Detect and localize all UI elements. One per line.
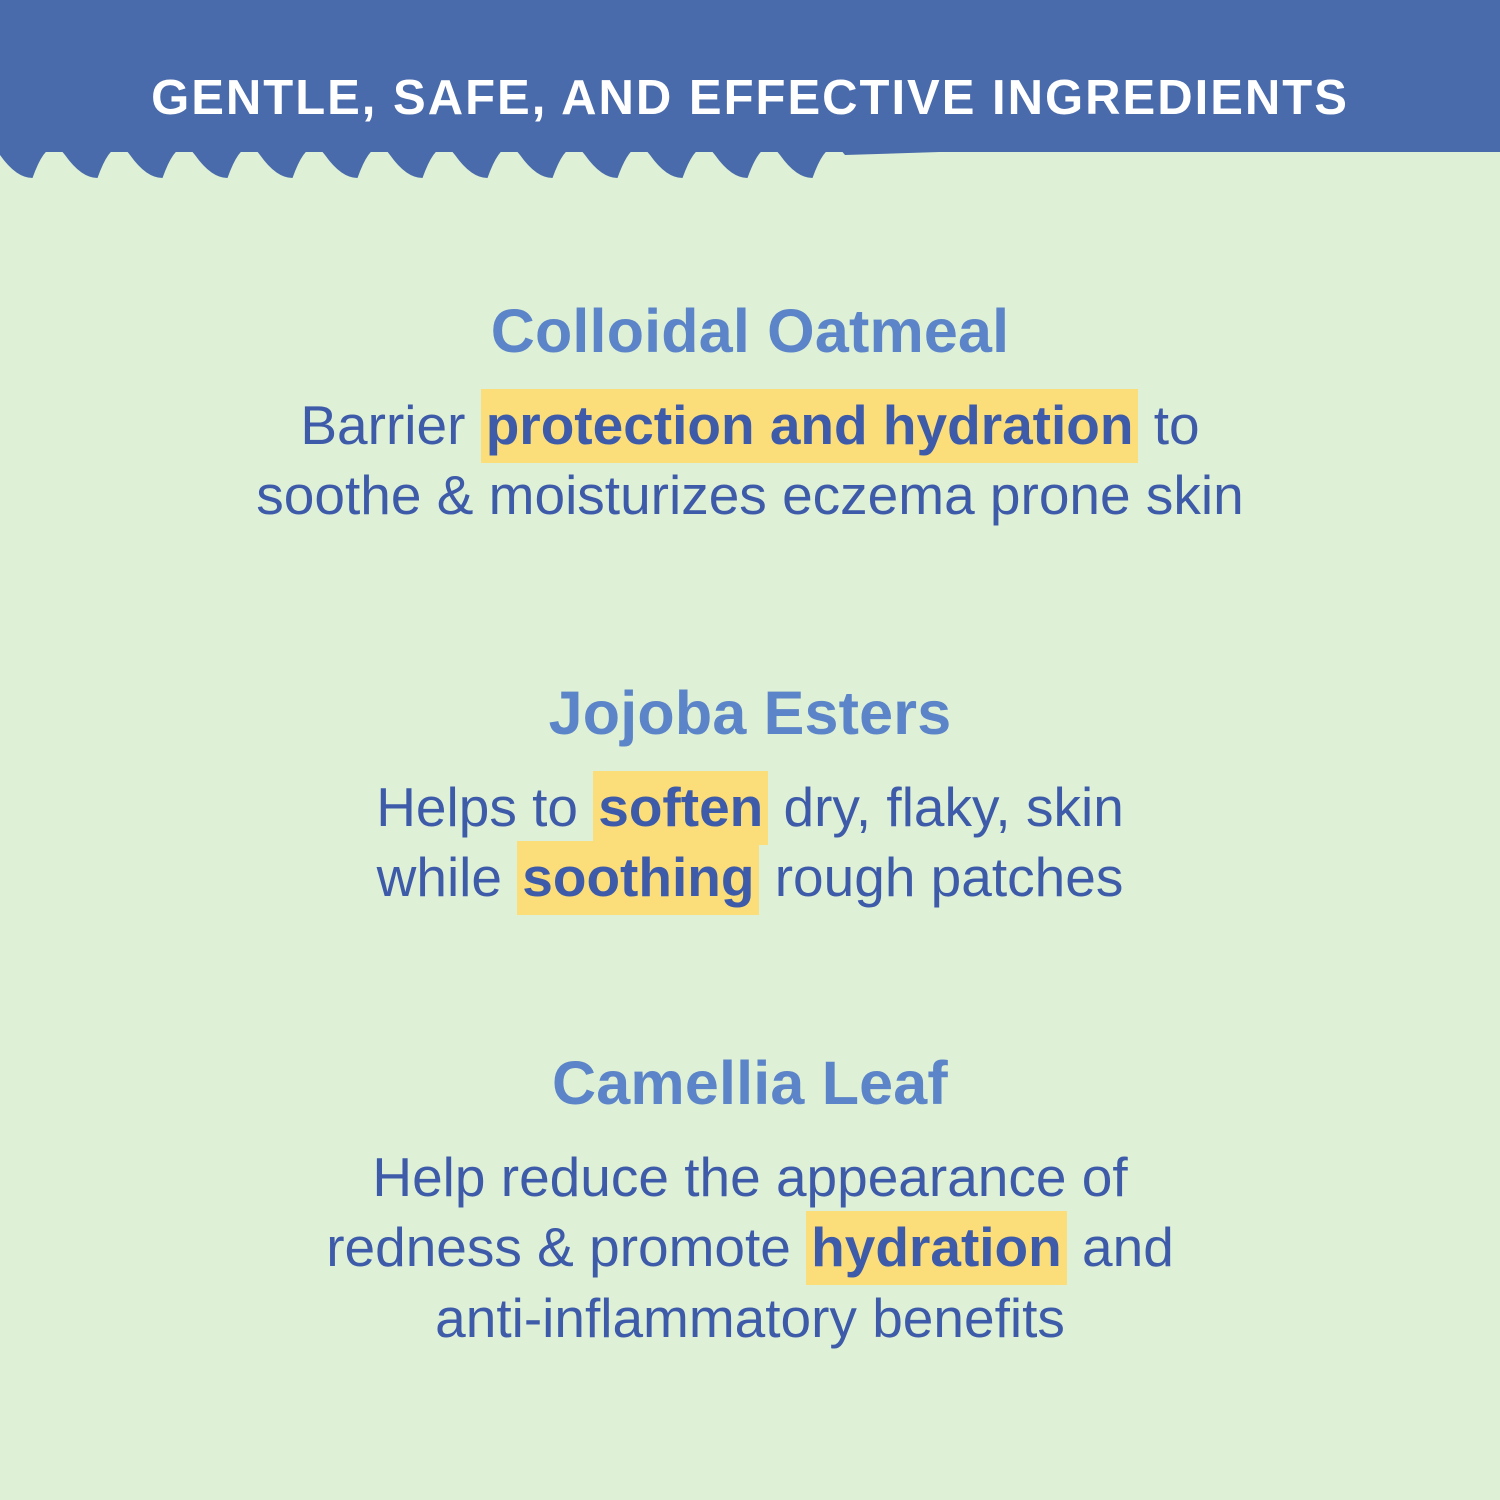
ingredient-item-colloidal-oatmeal: Colloidal Oatmeal Barrier protection and… (0, 296, 1500, 531)
text-run: Help reduce the appearance of (372, 1146, 1127, 1208)
text-run: redness & promote (326, 1216, 806, 1278)
text-run: soothe & moisturizes eczema prone skin (256, 464, 1243, 526)
text-run: dry, flaky, skin (768, 776, 1124, 838)
ingredient-name: Jojoba Esters (0, 678, 1500, 750)
text-run: and (1067, 1216, 1174, 1278)
ingredient-description: Help reduce the appearance ofredness & p… (0, 1142, 1500, 1353)
description-line: Help reduce the appearance of (0, 1142, 1500, 1212)
scalloped-wave-divider-icon (0, 132, 1500, 178)
description-line: soothe & moisturizes eczema prone skin (0, 460, 1500, 530)
description-line: while soothing rough patches (0, 842, 1500, 912)
highlighted-phrase: soften (593, 771, 768, 845)
text-run: Barrier (300, 394, 480, 456)
header-banner: GENTLE, SAFE, AND EFFECTIVE INGREDIENTS (0, 0, 1500, 152)
description-line: Helps to soften dry, flaky, skin (0, 772, 1500, 842)
ingredients-poster: GENTLE, SAFE, AND EFFECTIVE INGREDIENTS … (0, 0, 1500, 1500)
description-line: redness & promote hydration and (0, 1212, 1500, 1282)
ingredients-list: Colloidal Oatmeal Barrier protection and… (0, 178, 1500, 1500)
description-line: anti-inflammatory benefits (0, 1283, 1500, 1353)
text-run: while (377, 846, 518, 908)
highlighted-phrase: hydration (806, 1211, 1067, 1285)
text-run: anti-inflammatory benefits (435, 1287, 1065, 1349)
text-run: Helps to (376, 776, 593, 838)
ingredient-item-camellia-leaf: Camellia Leaf Help reduce the appearance… (0, 1048, 1500, 1353)
text-run: rough patches (759, 846, 1123, 908)
ingredient-name: Camellia Leaf (0, 1048, 1500, 1120)
ingredient-description: Helps to soften dry, flaky, skinwhile so… (0, 772, 1500, 913)
ingredient-description: Barrier protection and hydration tosooth… (0, 390, 1500, 531)
description-line: Barrier protection and hydration to (0, 390, 1500, 460)
ingredient-name: Colloidal Oatmeal (0, 296, 1500, 368)
text-run: to (1138, 394, 1199, 456)
ingredient-item-jojoba-esters: Jojoba Esters Helps to soften dry, flaky… (0, 678, 1500, 913)
highlighted-phrase: soothing (517, 841, 759, 915)
highlighted-phrase: protection and hydration (481, 389, 1139, 463)
